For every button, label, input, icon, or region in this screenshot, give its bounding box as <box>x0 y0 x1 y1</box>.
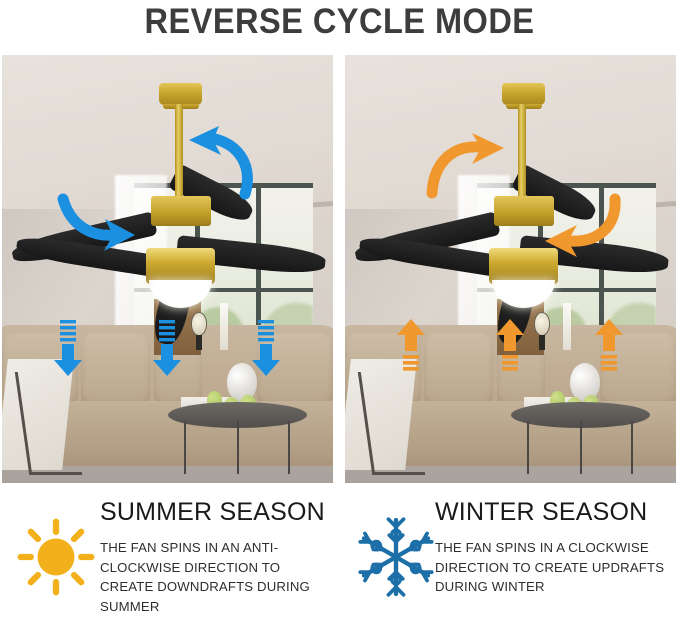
summer-text-block: SUMMER SEASON THE FAN SPINS IN AN ANTI- … <box>100 497 336 616</box>
winter-text-block: WINTER SEASON THE FAN SPINS IN A CLOCKWI… <box>435 497 679 597</box>
summer-season-block: SUMMER SEASON THE FAN SPINS IN AN ANTI- … <box>0 495 339 630</box>
winter-description: THE FAN SPINS IN A CLOCKWISE DIRECTION T… <box>435 538 679 597</box>
photo-panels <box>2 55 677 483</box>
fan-downrod <box>518 104 527 198</box>
winter-line-2: DIRECTION TO CREATE UPDRAFTS <box>435 558 679 578</box>
airflow-arrow-down <box>53 320 83 378</box>
fan-canopy <box>502 83 545 105</box>
airflow-arrow-down <box>152 320 182 378</box>
airflow-arrow-up <box>594 317 624 375</box>
summer-description: THE FAN SPINS IN AN ANTI- CLOCKWISE DIRE… <box>100 538 336 616</box>
winter-line-1: THE FAN SPINS IN A CLOCKWISE <box>435 538 679 558</box>
winter-line-3: DURING WINTER <box>435 577 679 597</box>
rotation-arrow-orange-bottom <box>535 195 620 257</box>
summer-photo-panel <box>2 55 333 483</box>
winter-heading: WINTER SEASON <box>435 497 679 527</box>
airflow-arrow-down <box>251 320 281 378</box>
snowflake-icon <box>354 515 438 599</box>
page-title: REVERSE CYCLE MODE <box>24 1 655 43</box>
winter-season-block: WINTER SEASON THE FAN SPINS IN A CLOCKWI… <box>340 495 679 630</box>
ceiling-fan-winter <box>345 55 676 483</box>
airflow-arrow-up <box>396 317 426 375</box>
summer-line-4: SUMMER <box>100 597 336 617</box>
ceiling-fan-summer <box>2 55 333 483</box>
airflow-arrow-up <box>495 317 525 375</box>
winter-photo-panel <box>345 55 676 483</box>
fan-motor-housing <box>146 248 216 284</box>
rotation-arrow-blue-bottom <box>57 193 137 253</box>
summer-line-2: CLOCKWISE DIRECTION TO <box>100 558 336 578</box>
season-sections: SUMMER SEASON THE FAN SPINS IN AN ANTI- … <box>0 495 679 630</box>
fan-canopy <box>159 83 202 105</box>
summer-line-3: CREATE DOWNDRAFTS DURING <box>100 577 336 597</box>
sun-icon <box>14 515 98 599</box>
infographic-page: REVERSE CYCLE MODE <box>0 0 679 630</box>
summer-line-1: THE FAN SPINS IN AN ANTI- <box>100 538 336 558</box>
summer-heading: SUMMER SEASON <box>100 497 336 527</box>
rotation-arrow-blue-top <box>167 128 257 203</box>
rotation-arrow-orange-top <box>428 135 513 197</box>
